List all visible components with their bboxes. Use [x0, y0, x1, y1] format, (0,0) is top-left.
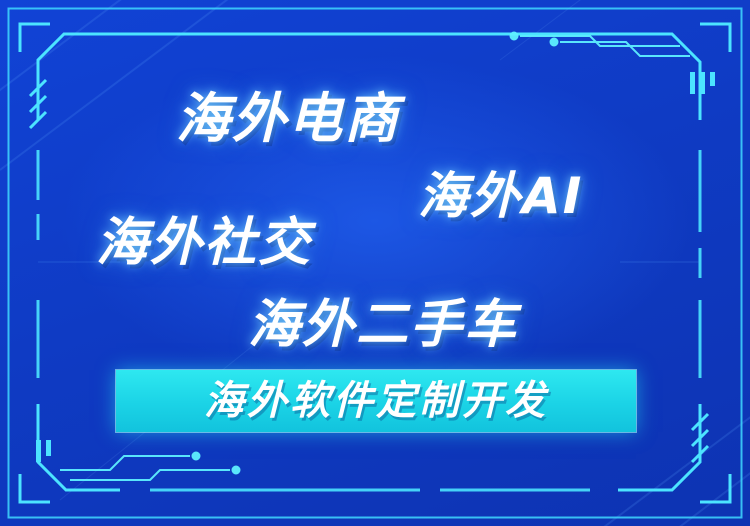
cta-banner[interactable]: 海外软件定制开发	[116, 370, 636, 432]
promo-poster: 海外电商 海外AI 海外社交 海外二手车 海外软件定制开发	[0, 0, 750, 526]
headline-2: 海外AI	[418, 156, 583, 228]
headline-3: 海外社交	[96, 200, 312, 275]
headline-1: 海外电商	[176, 74, 400, 153]
cta-label: 海外软件定制开发	[116, 370, 636, 432]
headline-4: 海外二手车	[248, 282, 518, 357]
headline-group: 海外电商 海外AI 海外社交 海外二手车 海外软件定制开发	[0, 0, 750, 526]
